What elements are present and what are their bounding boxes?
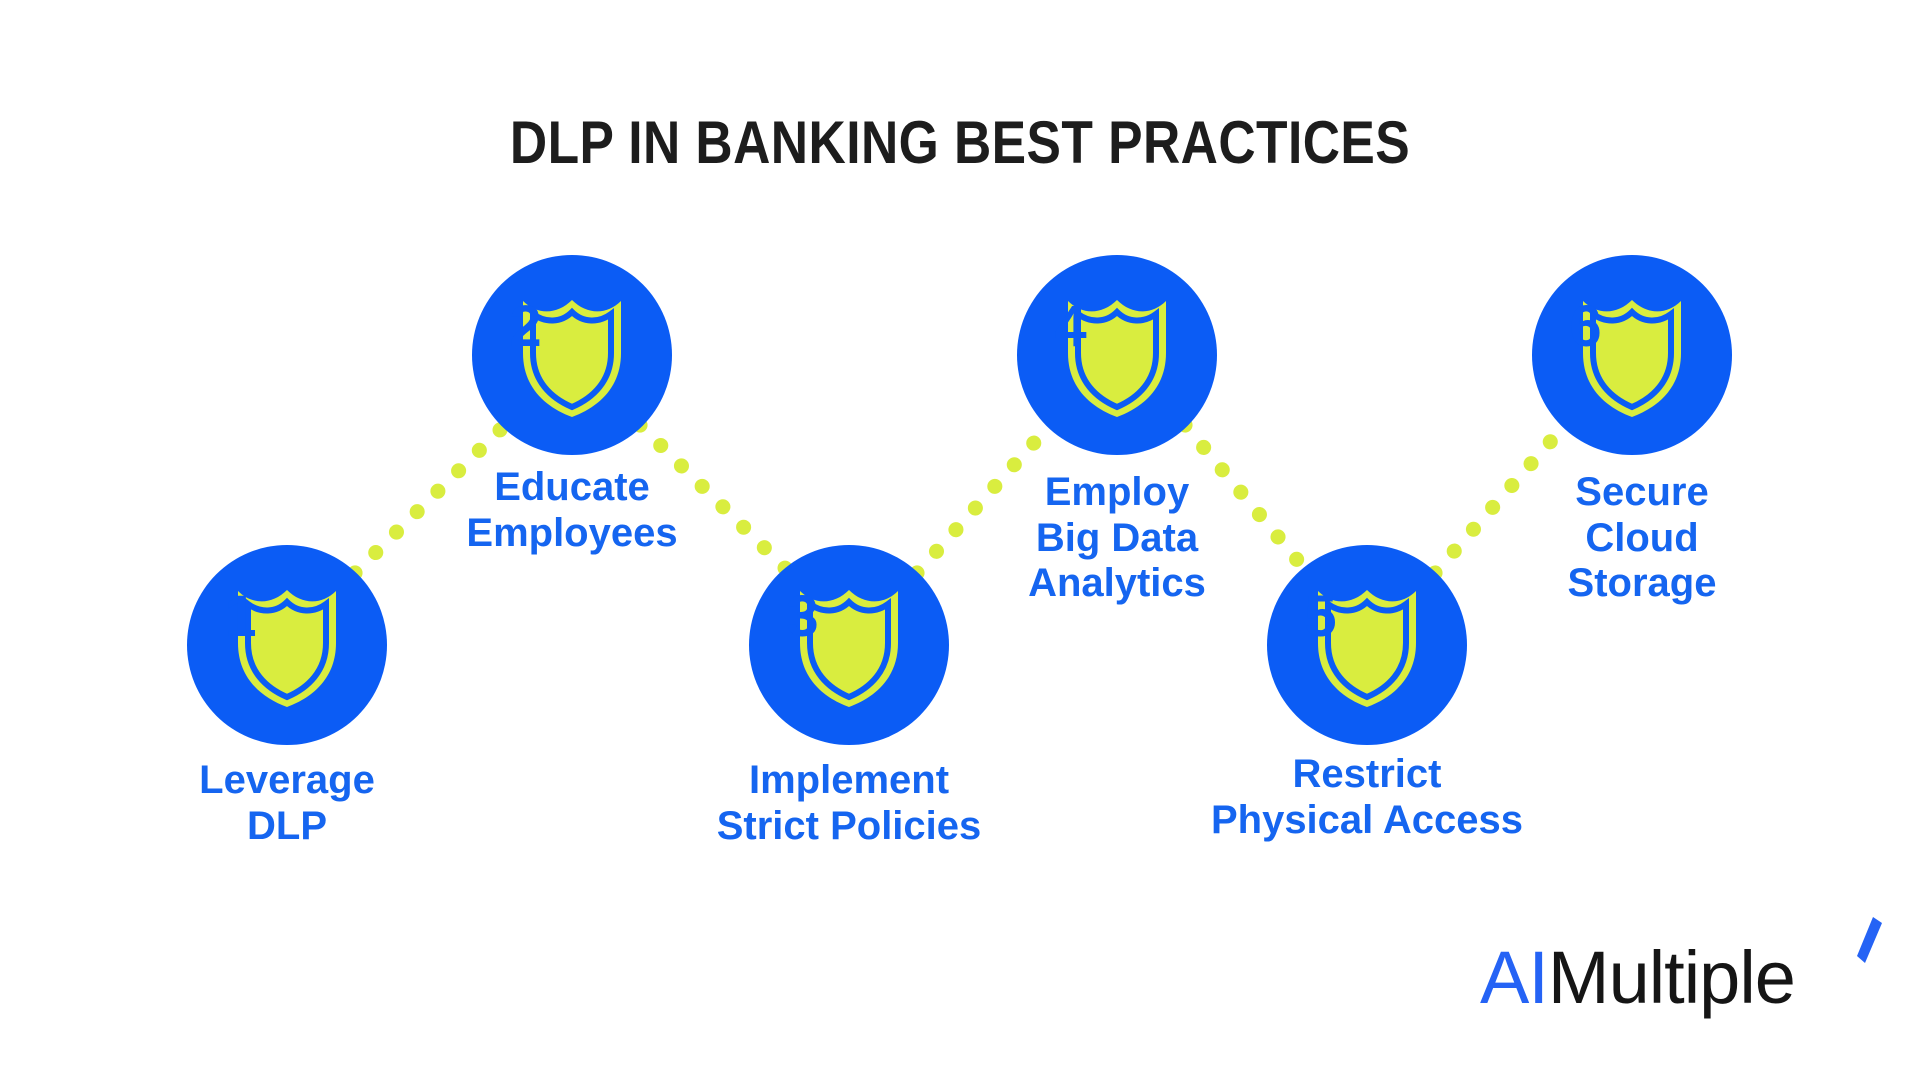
step-number-3: 3 bbox=[749, 545, 855, 673]
step-node-1[interactable]: 1 bbox=[187, 545, 387, 745]
infographic-canvas: DLP IN BANKING BEST PRACTICES 1 Leverage… bbox=[0, 0, 1920, 1080]
logo-text: AIMultiple bbox=[1480, 935, 1795, 1020]
step-label-5: Restrict Physical Access bbox=[1147, 752, 1587, 843]
step-number-2: 2 bbox=[472, 255, 578, 383]
step-node-4[interactable]: 4 bbox=[1017, 255, 1217, 455]
step-node-5[interactable]: 5 bbox=[1267, 545, 1467, 745]
step-node-3[interactable]: 3 bbox=[749, 545, 949, 745]
step-label-1: Leverage DLP bbox=[107, 758, 467, 849]
step-number-1: 1 bbox=[187, 545, 293, 673]
step-number-5: 5 bbox=[1267, 545, 1373, 673]
step-number-6: 6 bbox=[1532, 255, 1638, 383]
step-label-2: Educate Employees bbox=[392, 465, 752, 556]
logo-multiple-text: Multiple bbox=[1548, 936, 1795, 1019]
step-label-6: Secure Cloud Storage bbox=[1462, 470, 1822, 607]
logo-ai-text: AI bbox=[1480, 936, 1548, 1019]
step-node-6[interactable]: 6 bbox=[1532, 255, 1732, 455]
step-label-4: Employ Big Data Analytics bbox=[937, 470, 1297, 607]
step-node-2[interactable]: 2 bbox=[472, 255, 672, 455]
aimultiple-logo[interactable]: AIMultiple bbox=[1480, 935, 1880, 1021]
step-number-4: 4 bbox=[1017, 255, 1123, 383]
logo-tick-icon bbox=[1856, 917, 1882, 963]
step-label-3: Implement Strict Policies bbox=[629, 758, 1069, 849]
